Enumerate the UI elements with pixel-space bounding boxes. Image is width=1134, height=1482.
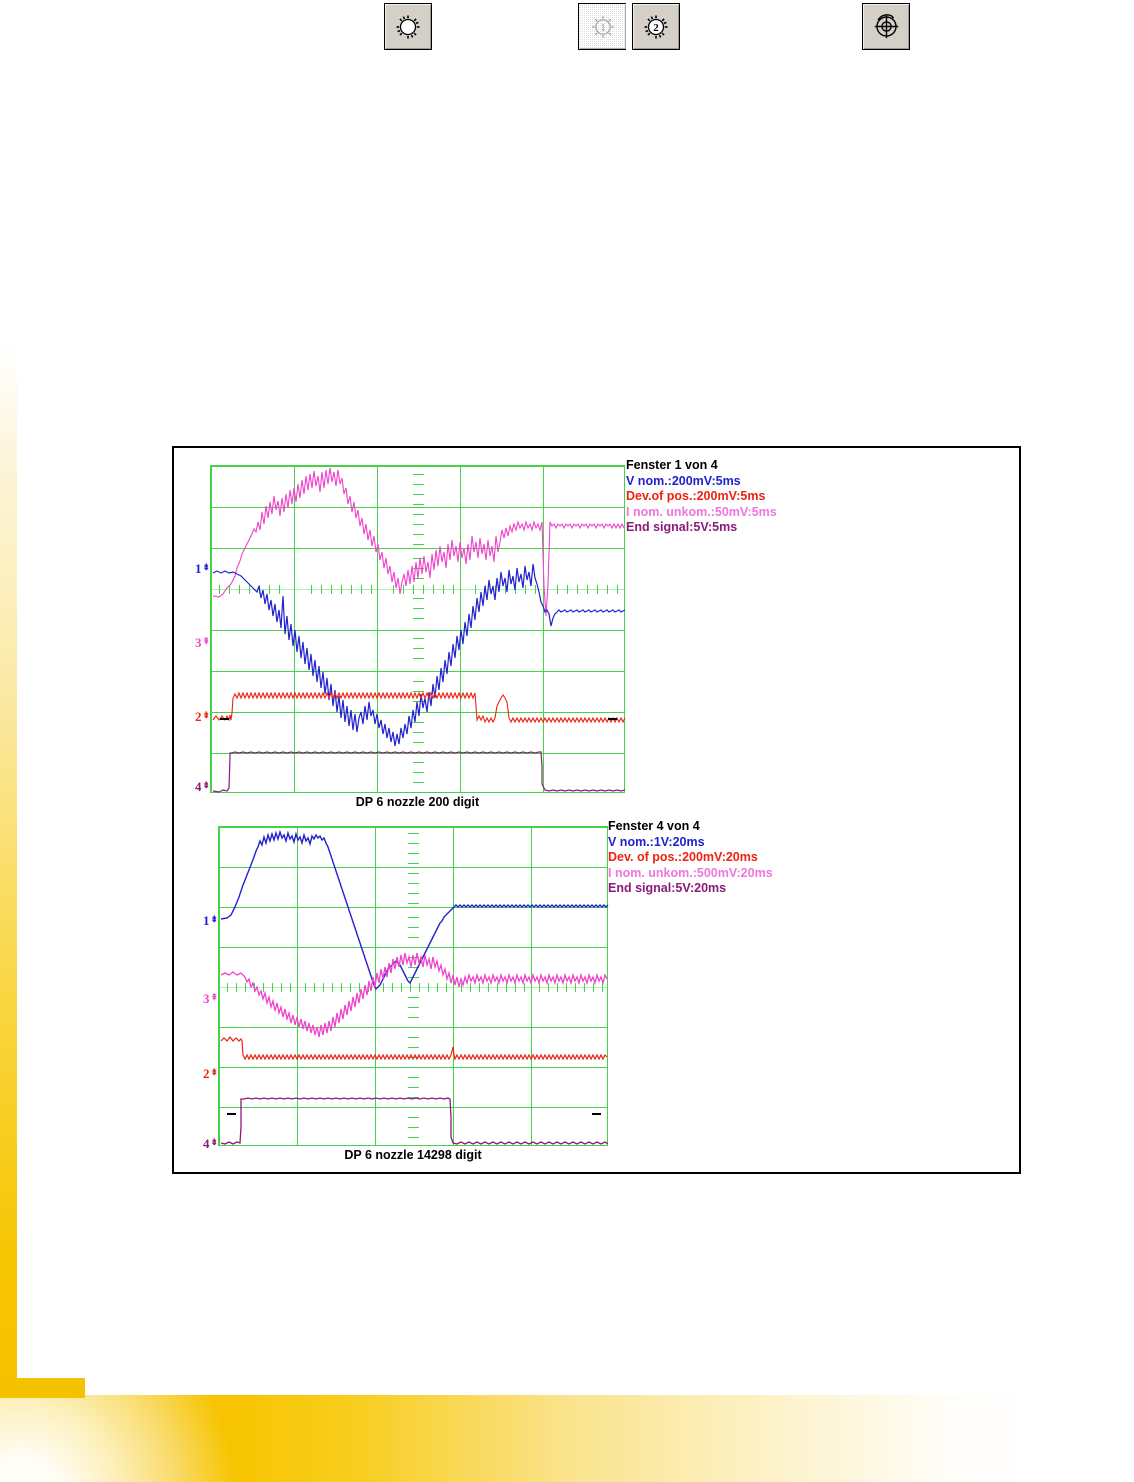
scope-2-caption: DP 6 nozzle 14298 digit: [218, 1148, 608, 1162]
scope-capture-2: 1⇟ 3⇞ 2⇟ 4⇟ Fenster 4 von 4 V nom.:1V:20…: [198, 815, 1008, 1165]
scope-2-level-mark-left: [227, 1113, 236, 1115]
scope-2-legend-title: Fenster 4 von 4: [608, 819, 773, 835]
scope-2-channel-marker-4: 4⇟: [203, 1137, 217, 1150]
brightness-button-1[interactable]: 1: [578, 3, 626, 50]
scope-capture-1: 1⇟ 3⇞ 2⇟ 4⇟ Fenster 1 von 4 V nom.:200mV…: [190, 454, 1008, 809]
scope-2-plot-area: [218, 826, 608, 1146]
decorative-corner-glow: [0, 1395, 250, 1482]
scope-2-trace-channel-4: [219, 827, 609, 1147]
sun-icon: [395, 14, 421, 40]
decorative-left-gold-cap: [0, 1378, 85, 1398]
scope-1-legend-entry-3: I nom. unkom.:50mV:5ms: [626, 505, 777, 521]
scope-2-legend-entry-2: Dev. of pos.:200mV:20ms: [608, 850, 773, 866]
sun-1-icon: 1: [590, 14, 616, 40]
scope-2-channel-marker-1: 1⇟: [203, 914, 217, 927]
scope-1-legend: Fenster 1 von 4 V nom.:200mV:5ms Dev.of …: [626, 458, 777, 536]
scope-1-channel-marker-3: 3⇞: [195, 636, 209, 649]
scope-1-legend-entry-2: Dev.of pos.:200mV:5ms: [626, 489, 777, 505]
scope-1-channel-marker-2: 2⇟: [195, 710, 209, 723]
scope-1-caption: DP 6 nozzle 200 digit: [210, 795, 625, 809]
scope-1-legend-entry-1: V nom.:200mV:5ms: [626, 474, 777, 490]
scope-1-plot-area: [210, 465, 625, 793]
scope-1-channel-marker-1: 1⇟: [195, 562, 209, 575]
calibration-target-button[interactable]: [862, 3, 910, 50]
scope-2-legend-entry-4: End signal:5V:20ms: [608, 881, 773, 897]
scope-2-channel-marker-3: 3⇞: [203, 992, 217, 1005]
scope-2-legend-entry-1: V nom.:1V:20ms: [608, 835, 773, 851]
sun-2-icon: 2: [643, 14, 669, 40]
scope-1-legend-title: Fenster 1 von 4: [626, 458, 777, 474]
scope-1-trace-channel-4: [211, 466, 626, 794]
svg-text:1: 1: [600, 23, 605, 34]
svg-text:2: 2: [653, 22, 659, 34]
scope-1-level-mark-right: [608, 718, 617, 720]
scope-1-channel-marker-4: 4⇟: [195, 780, 209, 793]
scope-2-channel-marker-2: 2⇟: [203, 1067, 217, 1080]
scope-2-legend-entry-3: I nom. unkom.:500mV:20ms: [608, 866, 773, 882]
brightness-button-2[interactable]: 2: [632, 3, 680, 50]
decorative-left-gold-stripe: [0, 342, 17, 1395]
crosshair-globe-icon: [873, 13, 900, 40]
scope-2-level-mark-right: [592, 1113, 601, 1115]
brightness-button[interactable]: [384, 3, 432, 50]
figure-frame: 1⇟ 3⇞ 2⇟ 4⇟ Fenster 1 von 4 V nom.:200mV…: [172, 446, 1021, 1174]
scope-1-level-mark-left: [220, 718, 229, 720]
scope-2-legend: Fenster 4 von 4 V nom.:1V:20ms Dev. of p…: [608, 819, 773, 897]
scope-1-legend-entry-4: End signal:5V:5ms: [626, 520, 777, 536]
